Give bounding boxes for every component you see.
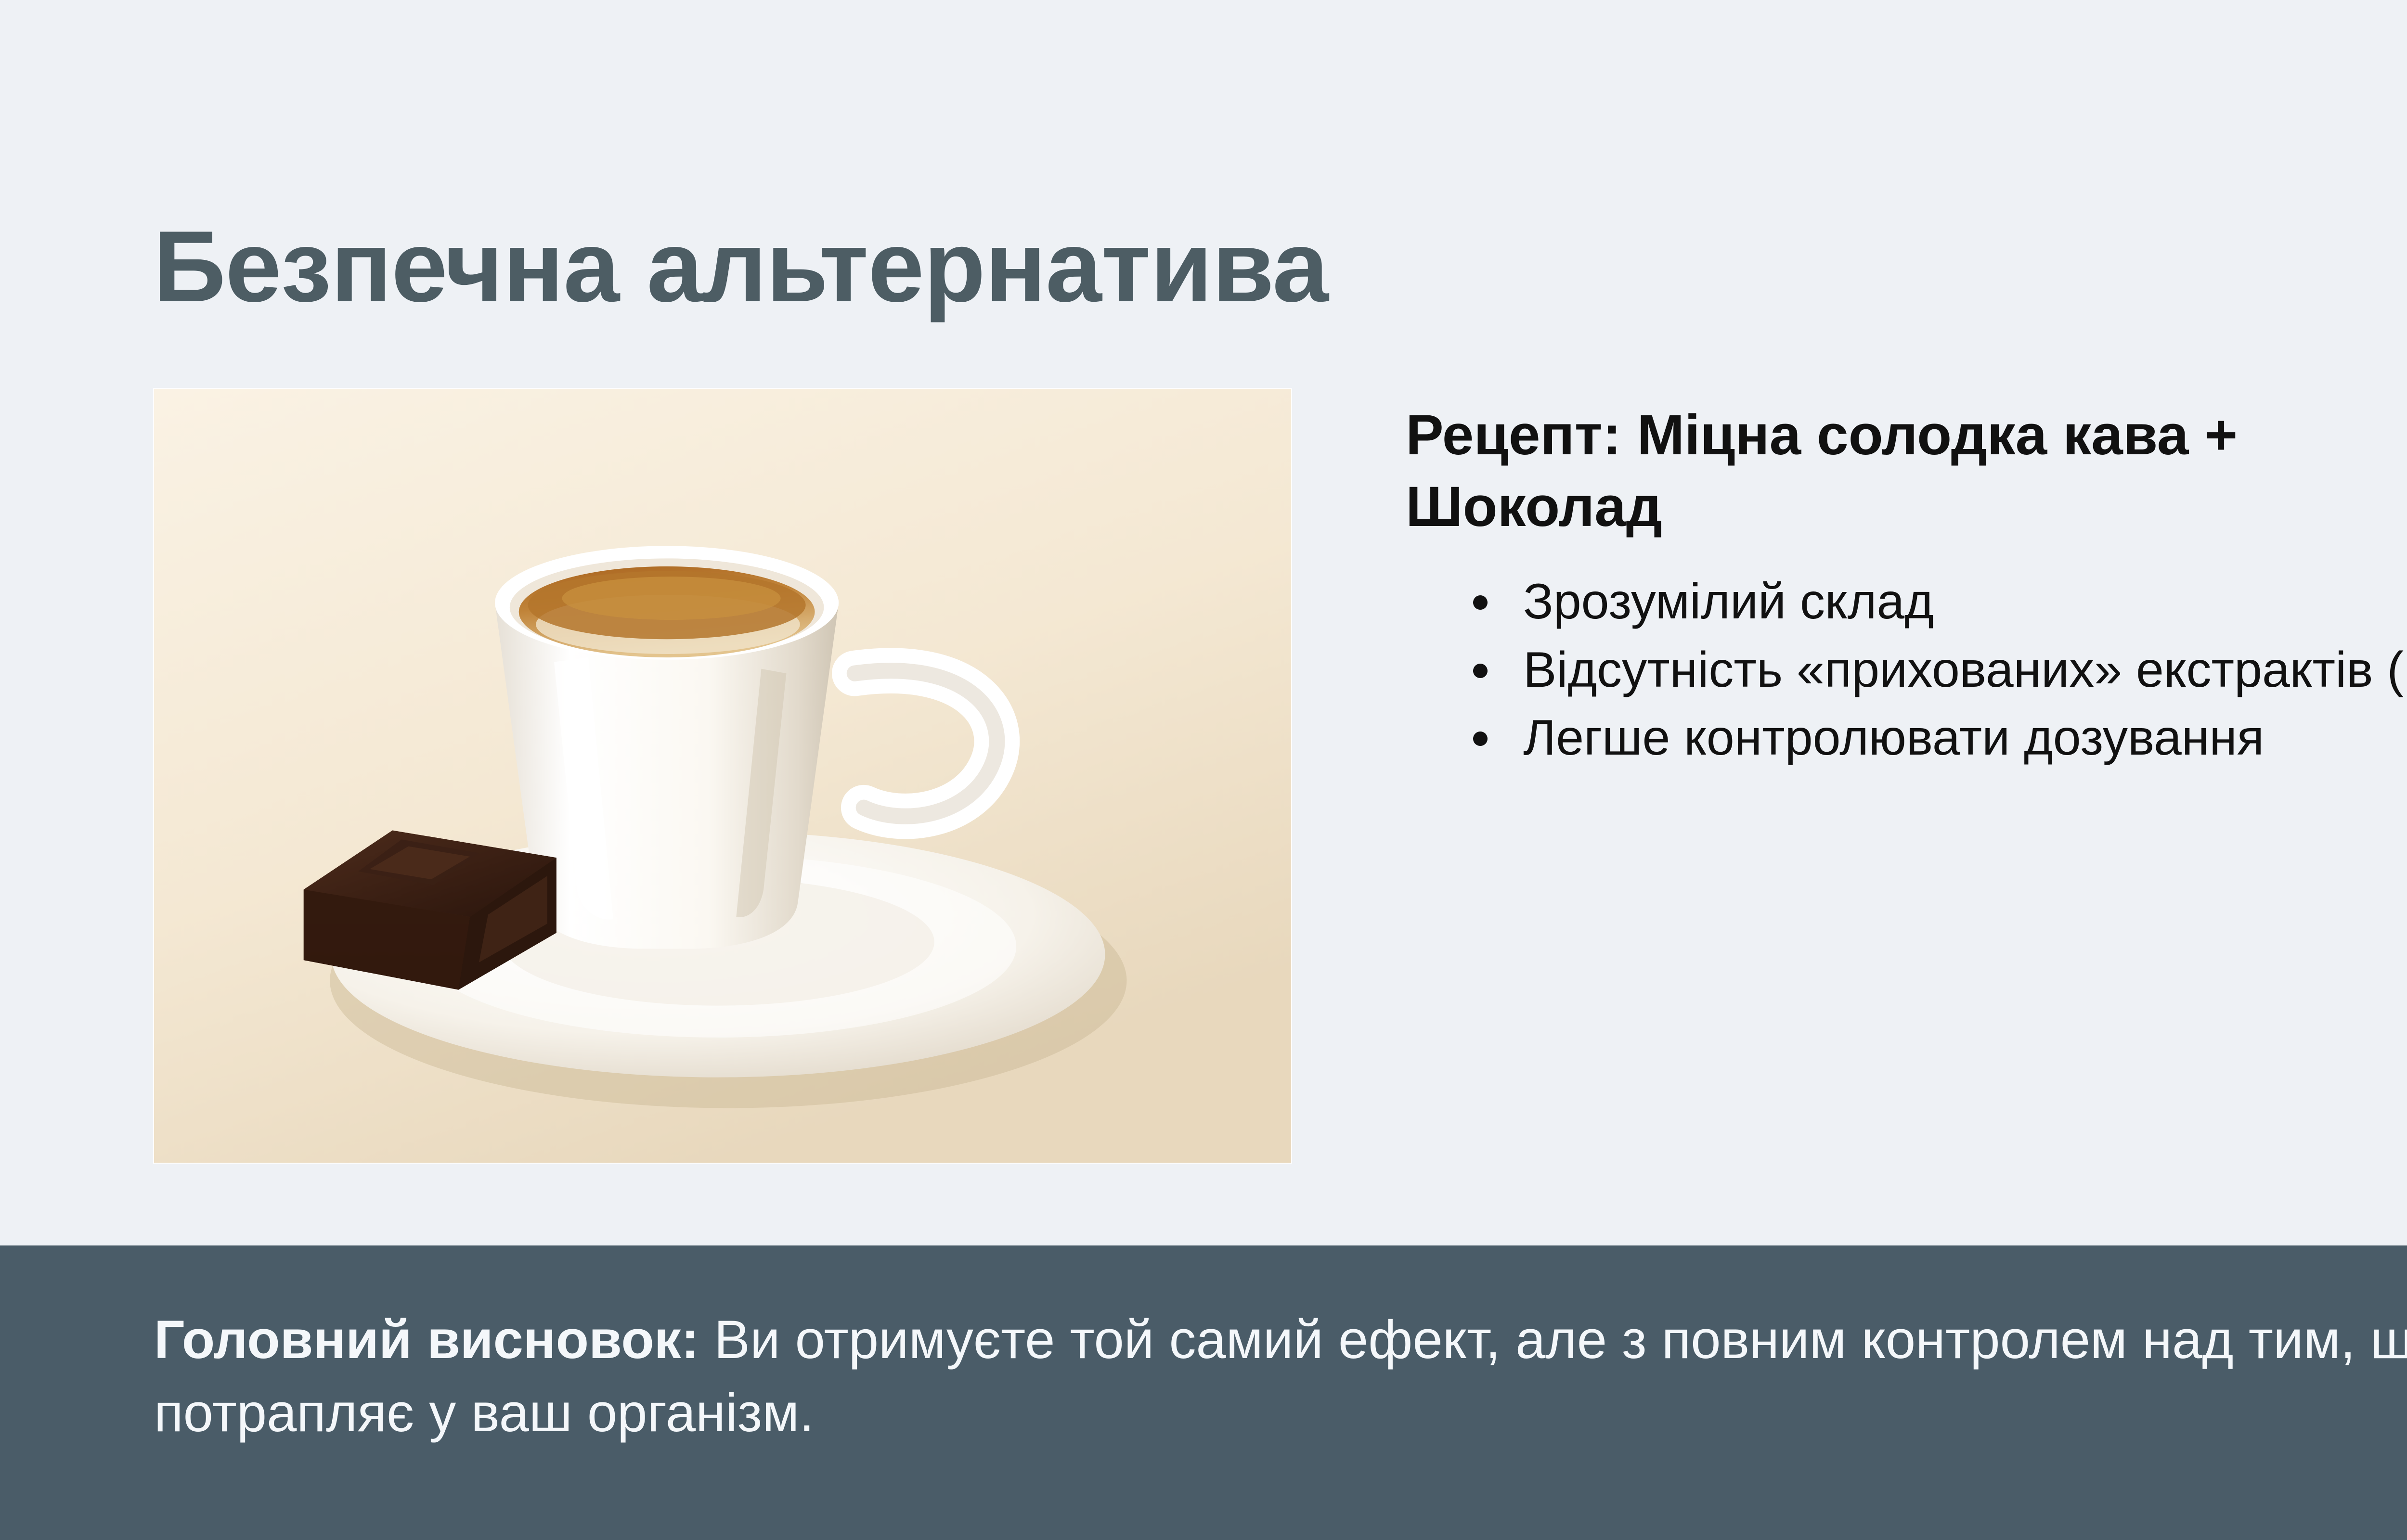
list-item: Легше контролювати дозування bbox=[1406, 706, 2407, 770]
recipe-panel: Рецепт: Міцна солодка кава + Шоколад Зро… bbox=[1406, 399, 2407, 773]
page-title: Безпечна альтернатива bbox=[153, 212, 2407, 321]
conclusion-banner: Головний висновок: Ви отримуєте той сами… bbox=[0, 1245, 2407, 1540]
list-item-label: Зрозумілий склад bbox=[1523, 574, 1934, 629]
conclusion-text: Головний висновок: Ви отримуєте той сами… bbox=[154, 1303, 2407, 1450]
recipe-heading: Рецепт: Міцна солодка кава + Шоколад bbox=[1406, 399, 2407, 542]
bullet-dot-icon bbox=[1473, 731, 1488, 746]
list-item: Відсутність «прихованих» екстрактів (гуа… bbox=[1406, 638, 2407, 703]
list-item-label: Відсутність «прихованих» екстрактів (гуа… bbox=[1523, 642, 2407, 698]
coffee-cup-illustration bbox=[154, 389, 1291, 1163]
slide-root: Безпечна альтернатива bbox=[0, 0, 2407, 1540]
list-item-label: Легше контролювати дозування bbox=[1523, 710, 2264, 766]
coffee-chocolate-photo bbox=[154, 389, 1291, 1163]
bullet-dot-icon bbox=[1473, 664, 1488, 678]
conclusion-lead: Головний висновок: bbox=[154, 1309, 699, 1370]
benefits-list: Зрозумілий склад Відсутність «прихованих… bbox=[1406, 569, 2407, 770]
bullet-dot-icon bbox=[1473, 595, 1488, 610]
list-item: Зрозумілий склад bbox=[1406, 569, 2407, 634]
